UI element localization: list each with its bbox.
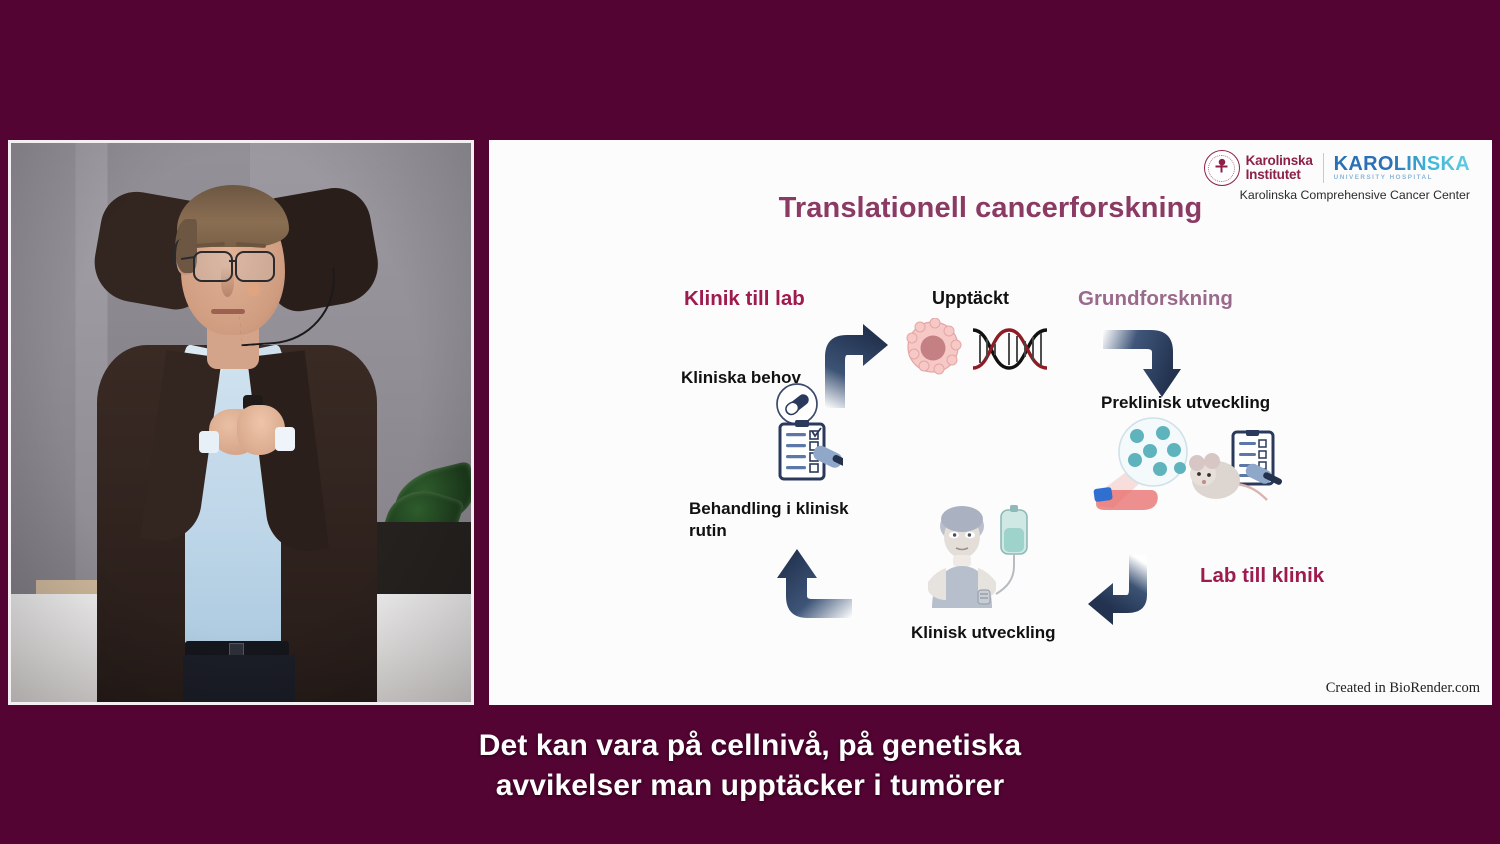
kuh-subtitle: UNIVERSITY HOSPITAL — [1334, 175, 1470, 181]
kuh-wordmark: KAROLINSKA — [1334, 154, 1470, 174]
logo-row: Karolinska Institutet KAROLINSKA UNIVERS… — [1204, 150, 1470, 186]
headset-microphone-boom-icon — [237, 268, 340, 347]
karolinska-university-hospital-logo: KAROLINSKA UNIVERSITY HOSPITAL — [1334, 154, 1470, 181]
arrow-turn-down-icon — [1103, 325, 1181, 405]
caption-line-1: Det kan vara på cellnivå, på genetiska — [0, 726, 1500, 766]
label-grundforskning: Grundforskning — [1078, 287, 1233, 311]
speaker-torso — [89, 345, 389, 702]
trousers — [183, 655, 295, 702]
shirt-cuff-right — [275, 427, 295, 451]
seal-ring — [1208, 155, 1235, 182]
speaker-video-frame — [11, 143, 471, 702]
slide-title: Translationell cancerforskning — [489, 192, 1492, 225]
karolinska-seal-icon — [1204, 150, 1240, 186]
arrow-turn-up-icon — [774, 546, 852, 627]
speaker-hands — [209, 405, 285, 463]
logo-divider — [1323, 153, 1324, 183]
caption-line-2: avvikelser man upptäcker i tumörer — [0, 766, 1500, 806]
lab-mouse-clipboard-icon — [1189, 430, 1285, 515]
biorender-attribution: Created in BioRender.com — [1326, 680, 1480, 697]
ki-wordmark-line2: Institutet — [1246, 168, 1313, 182]
caption-subtitle: Det kan vara på cellnivå, på genetiska a… — [0, 726, 1500, 805]
clipboard-pill-icon — [771, 383, 843, 488]
slide-panel[interactable]: Karolinska Institutet KAROLINSKA UNIVERS… — [489, 140, 1492, 705]
arrow-turn-left-icon — [1087, 555, 1169, 638]
label-lab-till-klinik: Lab till klinik — [1200, 564, 1324, 588]
nose — [221, 267, 234, 297]
presentation-screen: Karolinska Institutet KAROLINSKA UNIVERS… — [0, 0, 1500, 844]
cell-culture-flask-icon — [1093, 416, 1189, 516]
label-behandling-i-klinisk-rutin: Behandling i klinisk rutin — [689, 498, 869, 542]
label-upptackt: Upptäckt — [932, 288, 1009, 309]
karolinska-institutet-wordmark: Karolinska Institutet — [1246, 154, 1313, 182]
karolinska-institutet-logo: Karolinska Institutet — [1204, 150, 1313, 186]
shirt-cuff-left — [199, 431, 219, 453]
label-klinisk-utveckling: Klinisk utveckling — [911, 623, 1056, 643]
ki-wordmark-line1: Karolinska — [1246, 154, 1313, 168]
eyeglasses-bridge — [229, 260, 237, 262]
cancer-cell-icon — [904, 318, 962, 381]
label-klinik-till-lab: Klinik till lab — [684, 287, 805, 311]
speaker-video-panel[interactable] — [8, 140, 474, 705]
headset-earpiece-icon — [173, 239, 189, 273]
speaker-figure — [89, 159, 389, 702]
dna-helix-icon — [969, 326, 1053, 377]
headset-microphone-capsule-icon — [247, 283, 260, 296]
patient-iv-drip-icon — [926, 504, 1036, 621]
